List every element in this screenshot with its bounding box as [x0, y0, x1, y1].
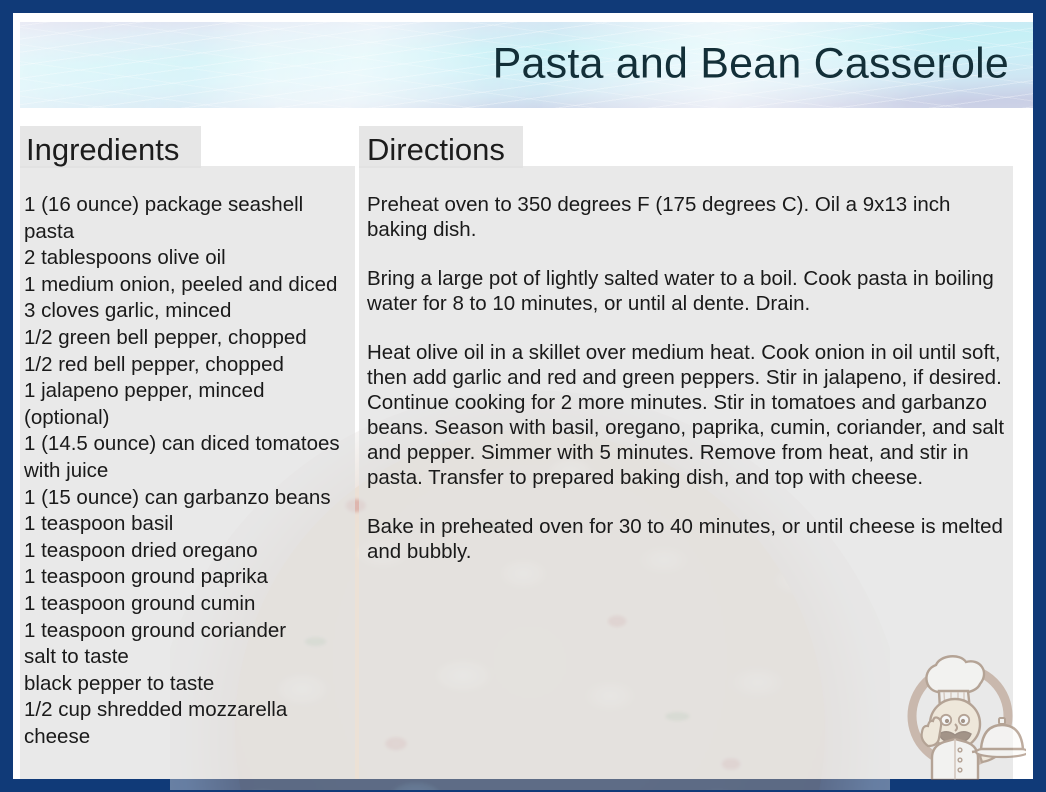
ingredient-item: 1 teaspoon ground coriander [24, 618, 354, 645]
ingredients-heading: Ingredients [26, 134, 179, 165]
ingredient-item: 1 jalapeno pepper, minced (optional) [24, 378, 354, 431]
ingredient-item: 1 (15 ounce) can garbanzo beans [24, 485, 354, 512]
ingredient-item: black pepper to taste [24, 671, 354, 698]
ingredient-item: 1 teaspoon basil [24, 511, 354, 538]
direction-step: Bring a large pot of lightly salted wate… [367, 266, 1007, 316]
directions-body: Preheat oven to 350 degrees F (175 degre… [367, 192, 1007, 564]
direction-step: Bake in preheated oven for 30 to 40 minu… [367, 514, 1007, 564]
ingredient-item: salt to taste [24, 644, 354, 671]
ingredient-item: 1 (16 ounce) package seashell pasta [24, 192, 354, 245]
ingredient-item: 1 teaspoon ground cumin [24, 591, 354, 618]
ingredient-item: 3 cloves garlic, minced [24, 298, 354, 325]
ingredient-item: 1 (14.5 ounce) can diced tomatoes with j… [24, 431, 354, 484]
ingredient-item: 2 tablespoons olive oil [24, 245, 354, 272]
ingredient-item: 1/2 green bell pepper, chopped [24, 325, 354, 352]
title-banner: Pasta and Bean Casserole [20, 22, 1033, 108]
directions-heading: Directions [367, 134, 505, 165]
direction-step: Preheat oven to 350 degrees F (175 degre… [367, 192, 1007, 242]
ingredients-list: 1 (16 ounce) package seashell pasta2 tab… [24, 192, 354, 750]
ingredient-item: 1 medium onion, peeled and diced [24, 272, 354, 299]
ingredient-item: 1 teaspoon ground paprika [24, 564, 354, 591]
ingredient-item: 1 teaspoon dried oregano [24, 538, 354, 565]
ingredient-item: 1/2 red bell pepper, chopped [24, 352, 354, 379]
page-title: Pasta and Bean Casserole [493, 43, 1009, 86]
ingredient-item: 1/2 cup shredded mozzarella cheese [24, 697, 354, 750]
direction-step: Heat olive oil in a skillet over medium … [367, 340, 1007, 490]
recipe-card: Pasta and Bean Casserole Ingredients 1 (… [0, 0, 1046, 792]
